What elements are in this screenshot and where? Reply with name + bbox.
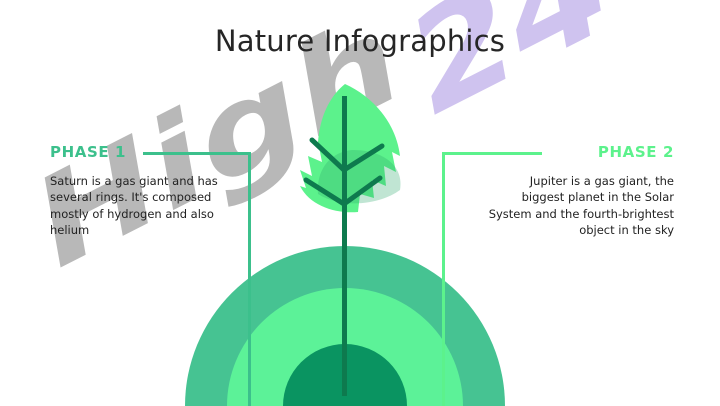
page-title: Nature Infographics — [0, 24, 720, 58]
phase-2-body: Jupiter is a gas giant, the biggest plan… — [488, 173, 674, 238]
slide-canvas: High 24 Nature Infographics PHASE 1 Satu… — [0, 0, 720, 406]
phase-block-1: PHASE 1 Saturn is a gas giant and has se… — [50, 143, 230, 238]
phase-1-body: Saturn is a gas giant and has several ri… — [50, 173, 230, 238]
phase-block-2: PHASE 2 Jupiter is a gas giant, the bigg… — [488, 143, 674, 238]
plant-stem — [342, 96, 347, 396]
phase-2-label: PHASE 2 — [488, 143, 674, 161]
phase-1-label: PHASE 1 — [50, 143, 230, 161]
connector-left-vertical — [248, 152, 251, 406]
connector-right-vertical — [442, 152, 445, 406]
